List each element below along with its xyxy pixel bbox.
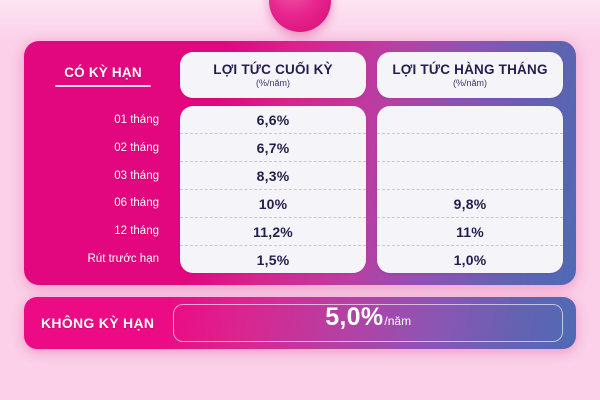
term-deposit-rate-card: CÓ KỲ HẠN LỢI TỨC CUỐI KỲ (%/năm) LỢI TỨ… bbox=[24, 41, 576, 285]
table-cell: 11% bbox=[377, 217, 563, 245]
row-label: 02 tháng bbox=[37, 134, 163, 162]
table-cell: 6,7% bbox=[180, 133, 366, 161]
column-header-end-of-term-title: LỢI TỨC CUỐI KỲ bbox=[213, 62, 332, 77]
table-cell bbox=[377, 161, 563, 189]
column-header-end-of-term: LỢI TỨC CUỐI KỲ (%/năm) bbox=[180, 52, 366, 98]
table-cell: 9,8% bbox=[377, 189, 563, 217]
row-label: Rút trước hạn bbox=[37, 245, 163, 273]
term-column-label: CÓ KỲ HẠN bbox=[64, 65, 142, 80]
table-cell: 1,0% bbox=[377, 245, 563, 273]
table-cell: 11,2% bbox=[180, 217, 366, 245]
row-label: 03 tháng bbox=[37, 162, 163, 190]
column-header-monthly-title: LỢI TỨC HÀNG THÁNG bbox=[392, 62, 547, 77]
table-cell: 1,5% bbox=[180, 245, 366, 273]
row-label: 06 tháng bbox=[37, 189, 163, 217]
term-labels-column: 01 tháng 02 tháng 03 tháng 06 tháng 12 t… bbox=[37, 106, 169, 273]
row-label: 01 tháng bbox=[37, 106, 163, 134]
values-column-end-of-term: 6,6% 6,7% 8,3% 10% 11,2% 1,5% bbox=[180, 106, 366, 273]
circle-blob-icon bbox=[269, 0, 331, 32]
row-label: 12 tháng bbox=[37, 217, 163, 245]
table-cell bbox=[377, 106, 563, 133]
no-term-rate-pill: 5,0% /năm bbox=[173, 304, 563, 342]
column-header-monthly: LỢI TỨC HÀNG THÁNG (%/năm) bbox=[377, 52, 563, 98]
column-header-end-of-term-unit: (%/năm) bbox=[256, 78, 290, 88]
table-cell: 8,3% bbox=[180, 161, 366, 189]
rate-card-body: 01 tháng 02 tháng 03 tháng 06 tháng 12 t… bbox=[37, 106, 563, 273]
table-cell bbox=[377, 133, 563, 161]
column-header-monthly-unit: (%/năm) bbox=[453, 78, 487, 88]
table-cell: 6,6% bbox=[180, 106, 366, 133]
term-column-header: CÓ KỲ HẠN bbox=[37, 52, 169, 98]
no-term-rate-value: 5,0% bbox=[325, 305, 383, 330]
table-cell: 10% bbox=[180, 189, 366, 217]
term-header-underline bbox=[55, 85, 151, 87]
no-term-rate-bar: KHÔNG KỲ HẠN 5,0% /năm bbox=[24, 297, 576, 349]
no-term-rate-unit: /năm bbox=[384, 315, 411, 327]
values-column-monthly: 9,8% 11% 1,0% bbox=[377, 106, 563, 273]
rate-card-header: CÓ KỲ HẠN LỢI TỨC CUỐI KỲ (%/năm) LỢI TỨ… bbox=[37, 52, 563, 98]
no-term-label: KHÔNG KỲ HẠN bbox=[41, 315, 154, 331]
